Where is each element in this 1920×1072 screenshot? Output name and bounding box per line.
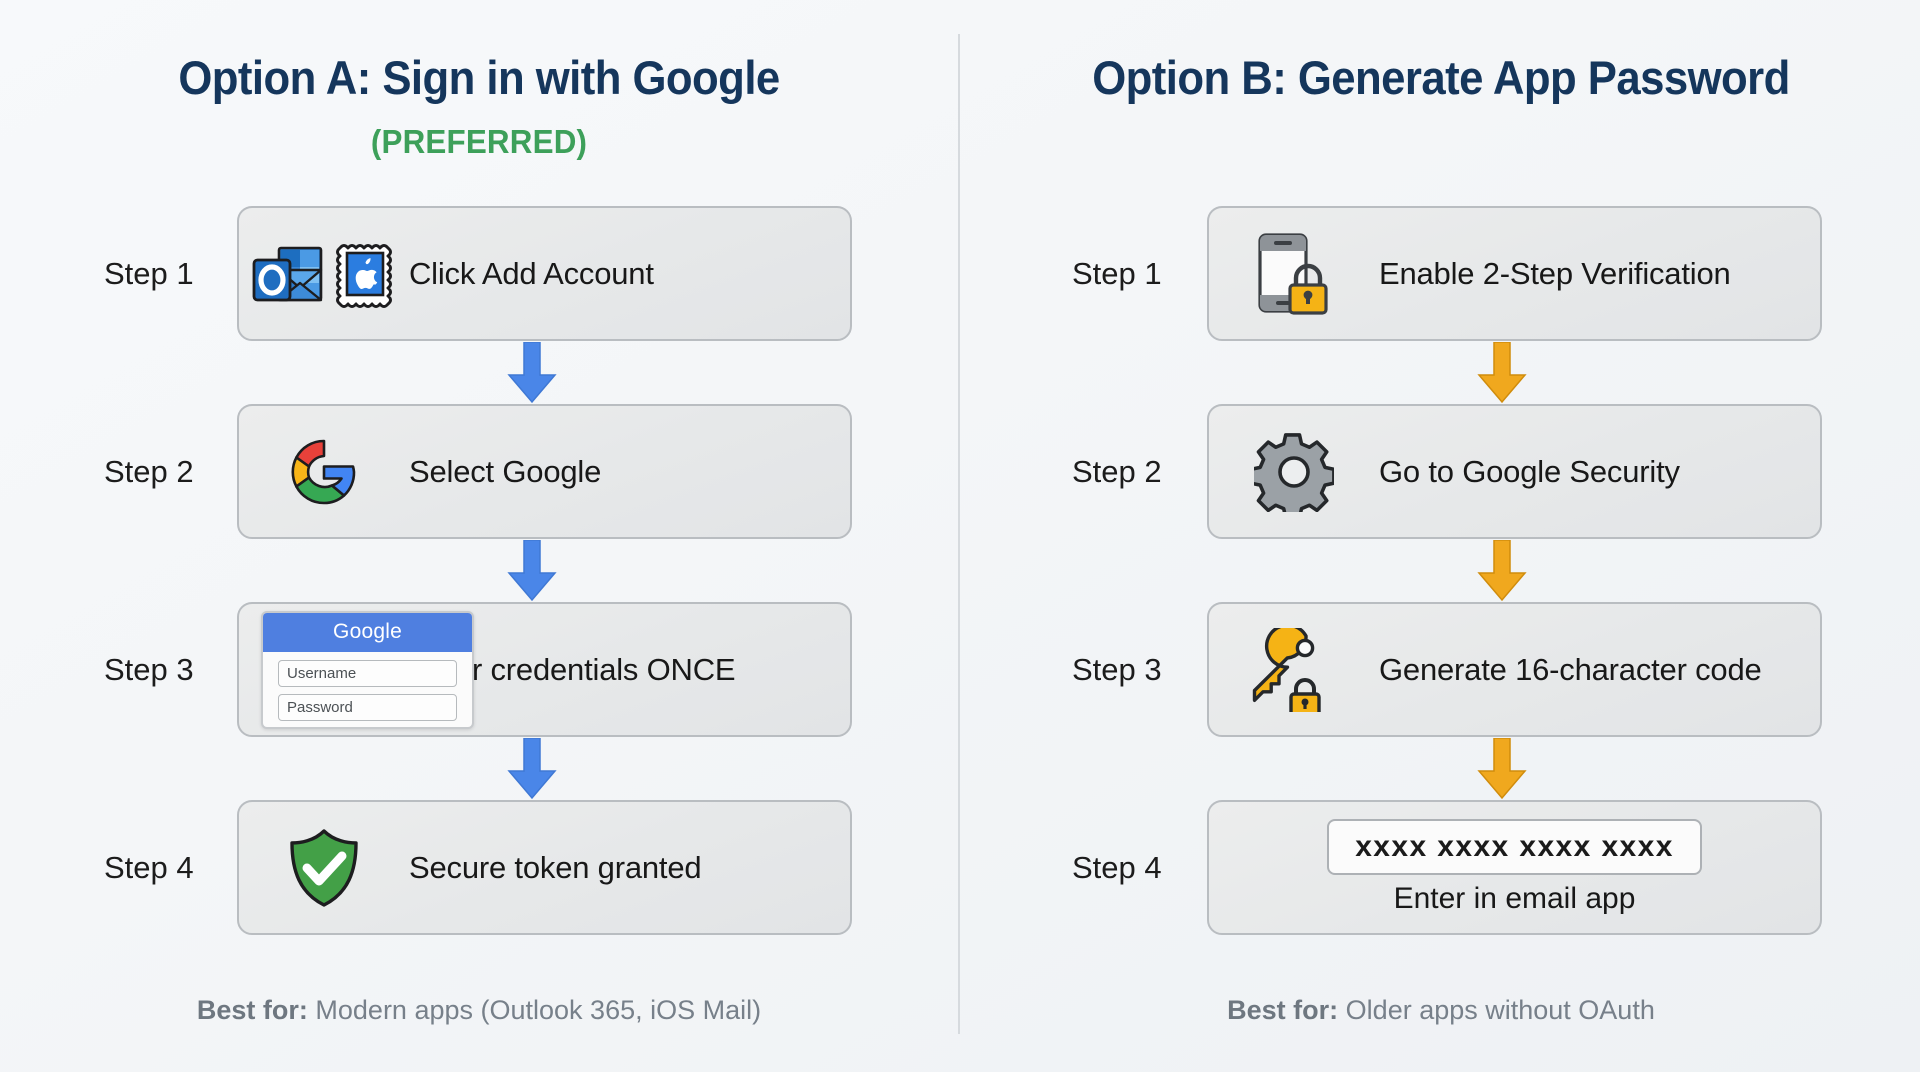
step-row: Step 1 [0, 206, 958, 341]
option-b-title: Option B: Generate App Password [996, 50, 1887, 105]
apple-mail-stamp-icon [334, 240, 396, 308]
card-text: Go to Google Security [1379, 454, 1680, 490]
step-card-b4[interactable]: xxxx xxxx xxxx xxxx Enter in email app [1207, 800, 1822, 935]
card-icon-group [239, 206, 409, 341]
phone-lock-icon [1252, 231, 1336, 317]
option-a-subtitle: (PREFERRED) [24, 123, 934, 161]
card-text: Generate 16-character code [1379, 652, 1762, 688]
option-a-title: Option A: Sign in with Google [34, 50, 925, 105]
step-row: Step 2 [0, 404, 958, 539]
arrow-down-blue [505, 540, 559, 602]
card-icon-group [239, 404, 409, 539]
key-lock-icon [1248, 628, 1340, 712]
username-field[interactable]: Username [278, 660, 457, 687]
card-icon-group [1209, 602, 1379, 737]
app-password-code: xxxx xxxx xxxx xxxx [1327, 819, 1702, 875]
card-icon-group [1209, 404, 1379, 539]
step-label: Step 4 [104, 850, 194, 886]
card-text: Secure token granted [409, 850, 701, 886]
footnote-text: Modern apps (Outlook 365, iOS Mail) [315, 995, 761, 1025]
google-login-body: Username Password [263, 652, 472, 721]
step-label: Step 1 [104, 256, 194, 292]
arrow-down-blue [505, 342, 559, 404]
step-label: Step 1 [1072, 256, 1162, 292]
step-card-a4[interactable]: Secure token granted [237, 800, 852, 935]
option-a-steps: Step 1 [0, 206, 958, 935]
step-card-b3[interactable]: Generate 16-character code [1207, 602, 1822, 737]
card-text: Click Add Account [409, 256, 654, 292]
gear-icon [1254, 432, 1334, 512]
option-b-steps: Step 1 [962, 206, 1920, 935]
step-label: Step 4 [1072, 850, 1162, 886]
step-card-a3[interactable]: Google Username Password Enter credentia… [237, 602, 852, 737]
arrow-down-blue [505, 738, 559, 800]
step-label: Step 3 [104, 652, 194, 688]
arrow-down-orange [1475, 342, 1529, 404]
infographic-canvas: Option A: Sign in with Google (PREFERRED… [0, 0, 1920, 1072]
card-text: Enable 2-Step Verification [1379, 256, 1731, 292]
column-divider [958, 34, 960, 1034]
arrow-down-orange [1475, 738, 1529, 800]
outlook-icon [252, 243, 324, 305]
option-b-footnote: Best for: Older apps without OAuth [962, 995, 1920, 1026]
step-row: Step 4 Secure token granted [0, 800, 958, 935]
footnote-text: Older apps without OAuth [1346, 995, 1655, 1025]
step-row: Step 4 xxxx xxxx xxxx xxxx Enter in emai… [962, 800, 1920, 935]
step-label: Step 2 [104, 454, 194, 490]
footnote-label: Best for: [197, 995, 316, 1025]
card-text: Select Google [409, 454, 601, 490]
step-label: Step 2 [1072, 454, 1162, 490]
shield-check-icon [286, 827, 362, 909]
google-g-icon [288, 436, 360, 508]
step-card-a2[interactable]: Select Google [237, 404, 852, 539]
arrow-down-orange [1475, 540, 1529, 602]
option-a-footnote: Best for: Modern apps (Outlook 365, iOS … [0, 995, 958, 1026]
option-b-column: Option B: Generate App Password Step 1 [962, 0, 1920, 1072]
step-card-a1[interactable]: Click Add Account [237, 206, 852, 341]
code-caption: Enter in email app [1394, 882, 1636, 916]
step-row: Step 1 [962, 206, 1920, 341]
card-icon-group [1209, 206, 1379, 341]
password-field[interactable]: Password [278, 694, 457, 721]
option-a-column: Option A: Sign in with Google (PREFERRED… [0, 0, 958, 1072]
card-icon-group [239, 800, 409, 935]
step-row: Step 3 [962, 602, 1920, 737]
step-label: Step 3 [1072, 652, 1162, 688]
step-card-b2[interactable]: Go to Google Security [1207, 404, 1822, 539]
google-login-dialog-icon: Google Username Password [261, 611, 474, 729]
step-row: Step 2 Go to Google Security [962, 404, 1920, 539]
step-row: Step 3 Google Username Password Enter cr… [0, 602, 958, 737]
footnote-label: Best for: [1227, 995, 1346, 1025]
step-card-b1[interactable]: Enable 2-Step Verification [1207, 206, 1822, 341]
google-login-brand: Google [263, 613, 472, 652]
